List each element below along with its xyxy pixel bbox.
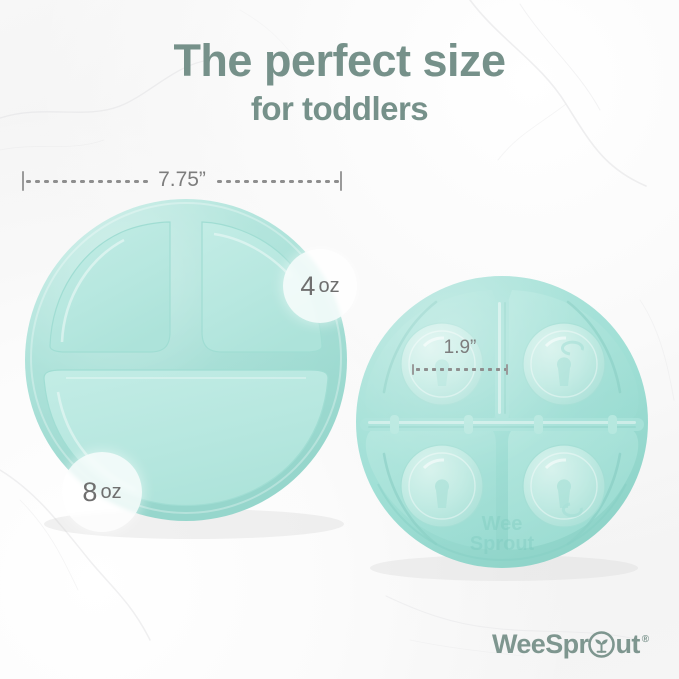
compartment-upper-left: [50, 222, 170, 352]
page-title: The perfect size: [0, 38, 679, 83]
dimension-cap-right: [340, 171, 342, 191]
brand-name-part2: ut: [615, 629, 639, 660]
brand-name-part1: WeeSpr: [492, 629, 588, 660]
registered-trademark-symbol: ®: [642, 634, 649, 645]
page-subtitle: for toddlers: [0, 92, 679, 125]
plate-width-label: 7.75”: [149, 168, 215, 192]
capacity-badge-4oz: 4 oz: [283, 249, 357, 323]
capacity-badge-4oz-value: 4: [300, 271, 314, 302]
capacity-badge-8oz-value: 8: [82, 477, 96, 508]
product-infographic: The perfect size for toddlers 7.75”: [0, 0, 679, 679]
divided-plate-back-svg: Wee Sprout: [352, 272, 664, 584]
brand-logo: WeeSpr ut ®: [492, 626, 649, 660]
dimension-dots-left: [24, 180, 149, 183]
capacity-badge-8oz: 8 oz: [62, 452, 142, 532]
suction-dimension-dots: [414, 368, 506, 371]
sprout-icon: [588, 631, 615, 658]
plate-width-dimension: 7.75”: [22, 166, 342, 196]
suction-cup-width-label: 1.9”: [412, 337, 508, 359]
capacity-badge-4oz-unit: oz: [318, 275, 339, 298]
suction-dimension-cap-right: [506, 364, 508, 375]
capacity-badge-8oz-unit: oz: [100, 481, 121, 504]
divided-plate-back: Wee Sprout: [352, 272, 664, 589]
suction-cup-width-dimension: [412, 362, 508, 376]
dimension-dots-right: [215, 180, 340, 183]
